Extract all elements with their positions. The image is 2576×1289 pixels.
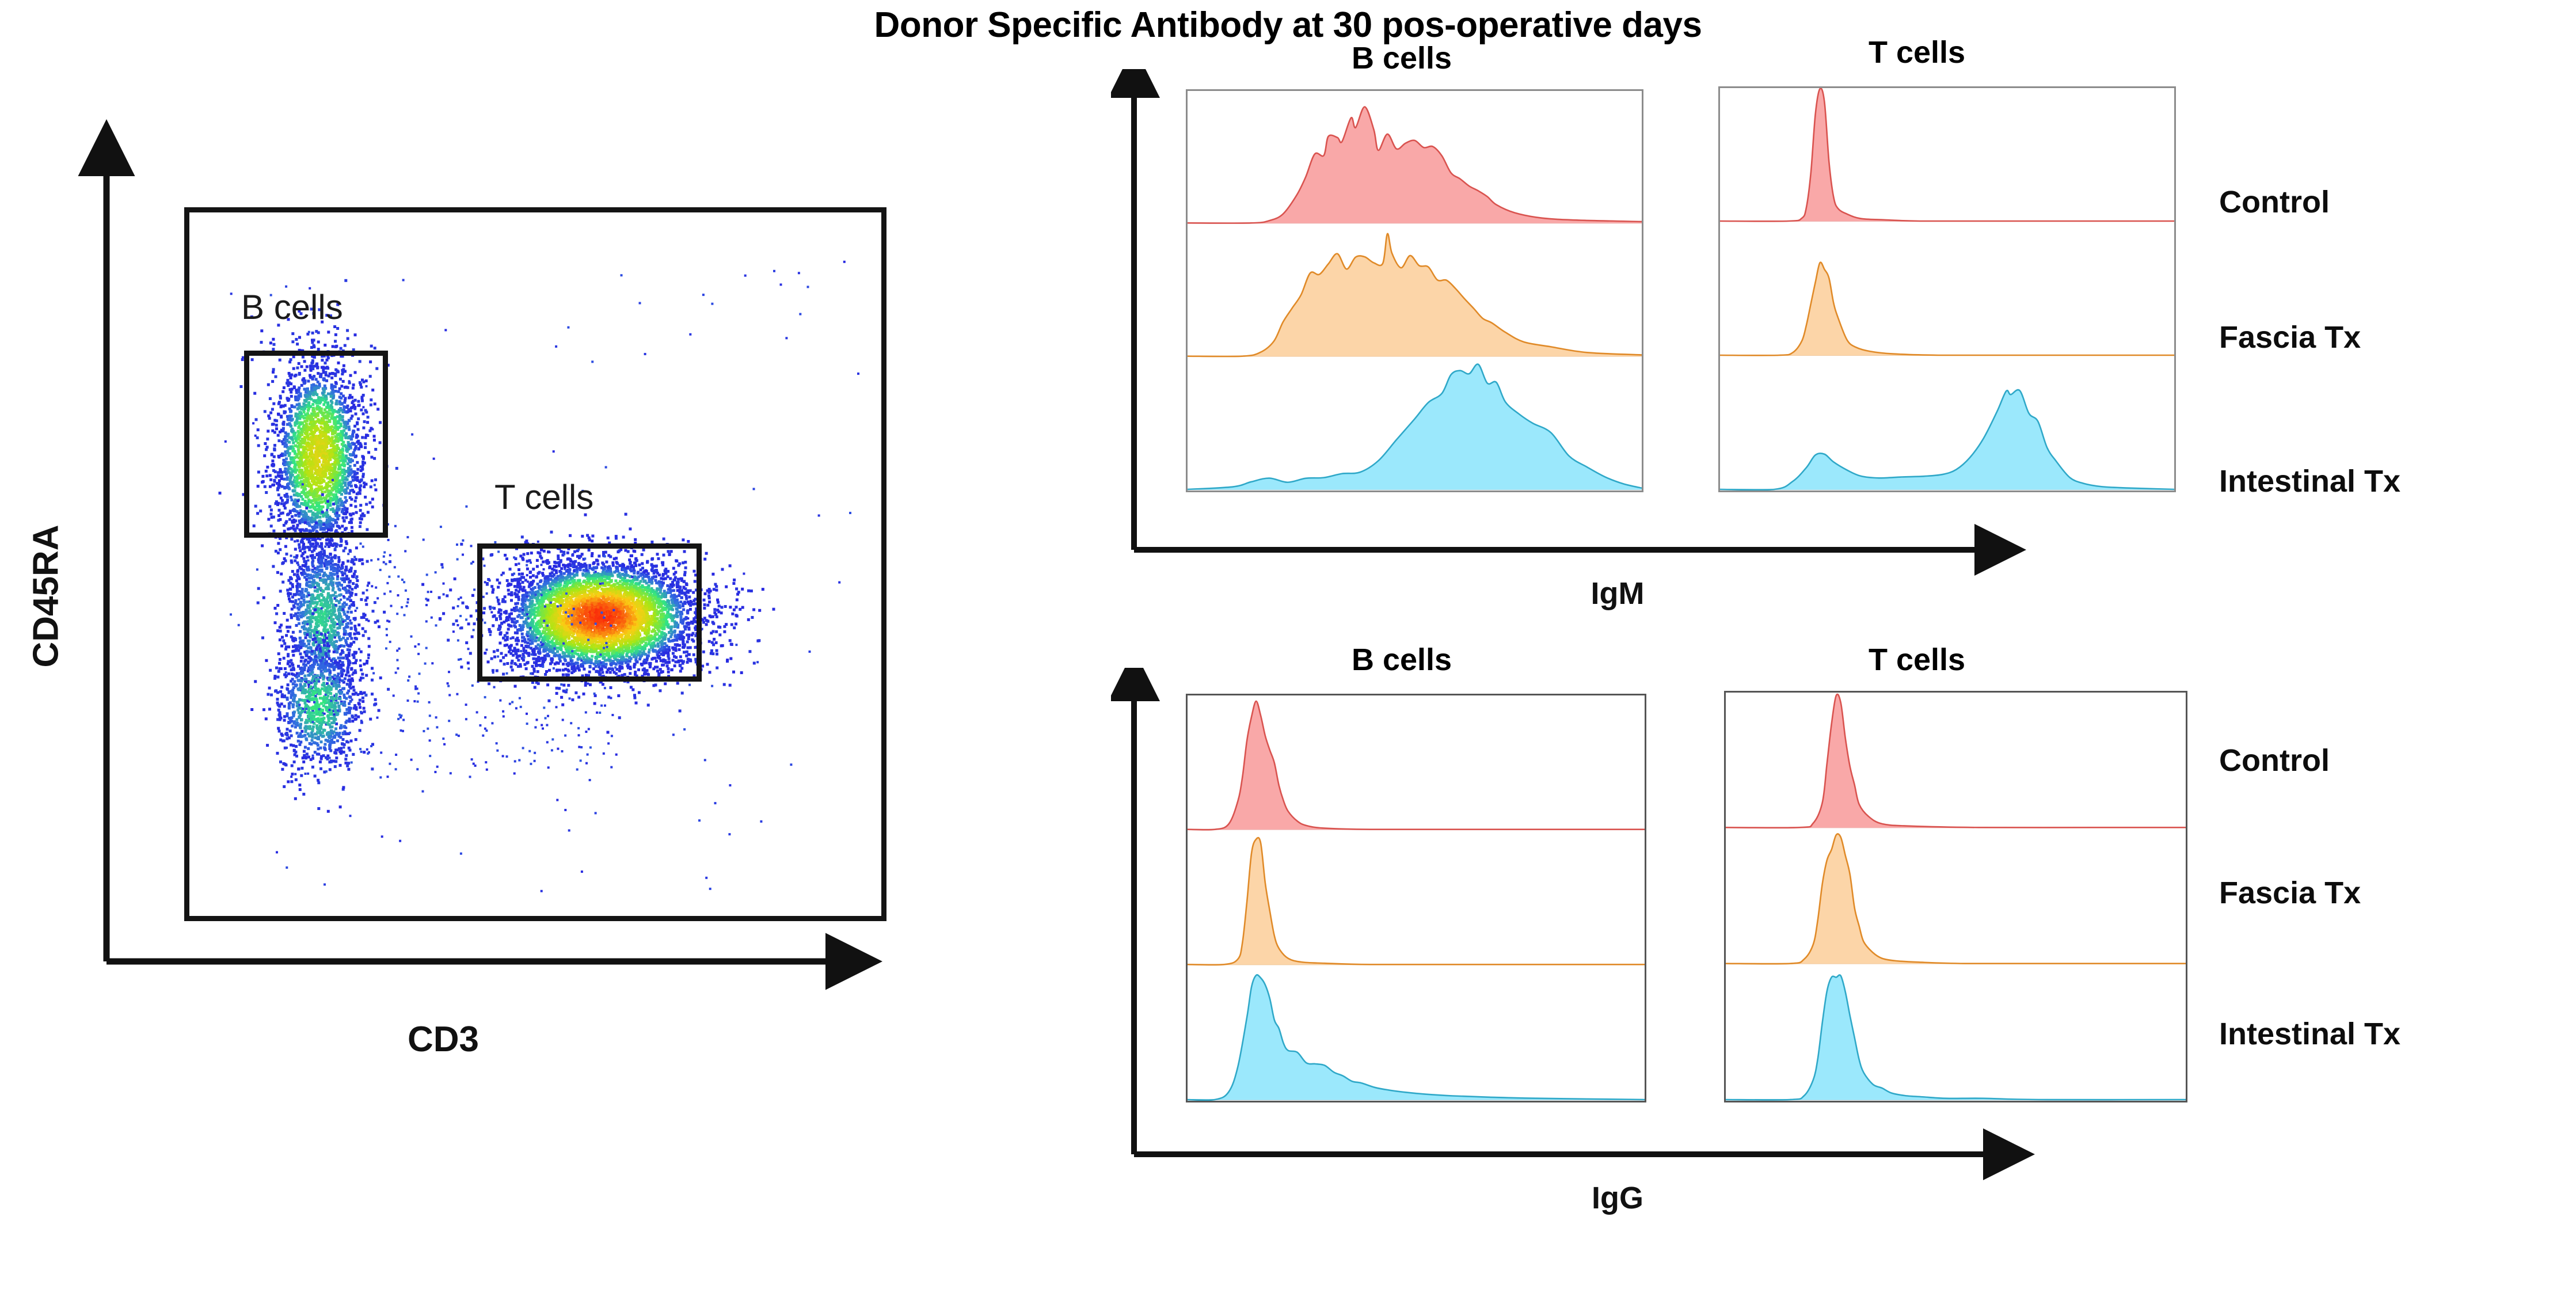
histogram-area-control: [1720, 88, 2174, 221]
b-cells-gate-label: B cells: [241, 287, 343, 327]
row-label-fascia-igm: Fascia Tx: [2219, 320, 2361, 355]
scatter-y-axis-label: CD45RA: [26, 476, 67, 717]
histogram-area-control: [1188, 107, 1642, 223]
igm-t-cells-column-header: T cells: [1687, 35, 2147, 70]
histogram-area-intestinal-tx: [1726, 975, 2186, 1100]
row-label-control-igm: Control: [2219, 184, 2330, 220]
histogram-outline-fascia-tx: [1720, 263, 2174, 356]
t-cells-gate[interactable]: [477, 543, 702, 682]
histogram-area-control: [1188, 701, 1645, 830]
igg-b-cells-plot[interactable]: [1186, 694, 1646, 1102]
scatter-plot-area: B cells T cells: [184, 207, 886, 921]
igm-b-cells-column-header: B cells: [1171, 40, 1632, 76]
igg-x-axis-label: IgG: [1474, 1180, 1761, 1216]
igm-panel-group: B cells T cells IgM: [1111, 69, 2320, 679]
histogram-area-fascia-tx: [1188, 234, 1642, 356]
histogram-outline-fascia-tx: [1726, 834, 2186, 964]
histogram-area-control: [1726, 694, 2186, 828]
igm-b-cells-plot[interactable]: [1186, 89, 1643, 492]
igg-t-cells-column-header: T cells: [1687, 642, 2147, 678]
histogram-area-intestinal-tx: [1720, 390, 2174, 490]
histogram-area-intestinal-tx: [1188, 975, 1645, 1100]
row-label-intestinal-igm: Intestinal Tx: [2219, 463, 2400, 499]
histogram-outline-control: [1720, 88, 2174, 221]
histogram-area-fascia-tx: [1720, 263, 2174, 356]
flow-cytometry-scatter-panel: CD45RA CD3 B cells T cells: [0, 115, 1013, 1209]
histogram-outline-intestinal-tx: [1726, 975, 2186, 1100]
scatter-x-axis-label: CD3: [322, 1019, 564, 1060]
histogram-outline-control: [1726, 694, 2186, 828]
igm-x-axis-label: IgM: [1474, 576, 1761, 611]
page-title: Donor Specific Antibody at 30 pos-operat…: [0, 5, 2576, 45]
t-cells-gate-label: T cells: [494, 477, 593, 517]
row-label-fascia-igg: Fascia Tx: [2219, 875, 2361, 911]
igm-t-cells-plot[interactable]: [1718, 86, 2176, 492]
row-label-intestinal-igg: Intestinal Tx: [2219, 1016, 2400, 1052]
histogram-area-fascia-tx: [1188, 838, 1645, 965]
igg-b-cells-column-header: B cells: [1171, 642, 1632, 678]
igg-panel-group: B cells T cells IgG: [1111, 668, 2320, 1278]
histogram-area-fascia-tx: [1726, 834, 2186, 964]
row-label-control-igg: Control: [2219, 743, 2330, 778]
b-cells-gate[interactable]: [244, 351, 388, 538]
igg-t-cells-plot[interactable]: [1724, 691, 2187, 1102]
histogram-area-intestinal-tx: [1188, 364, 1642, 489]
